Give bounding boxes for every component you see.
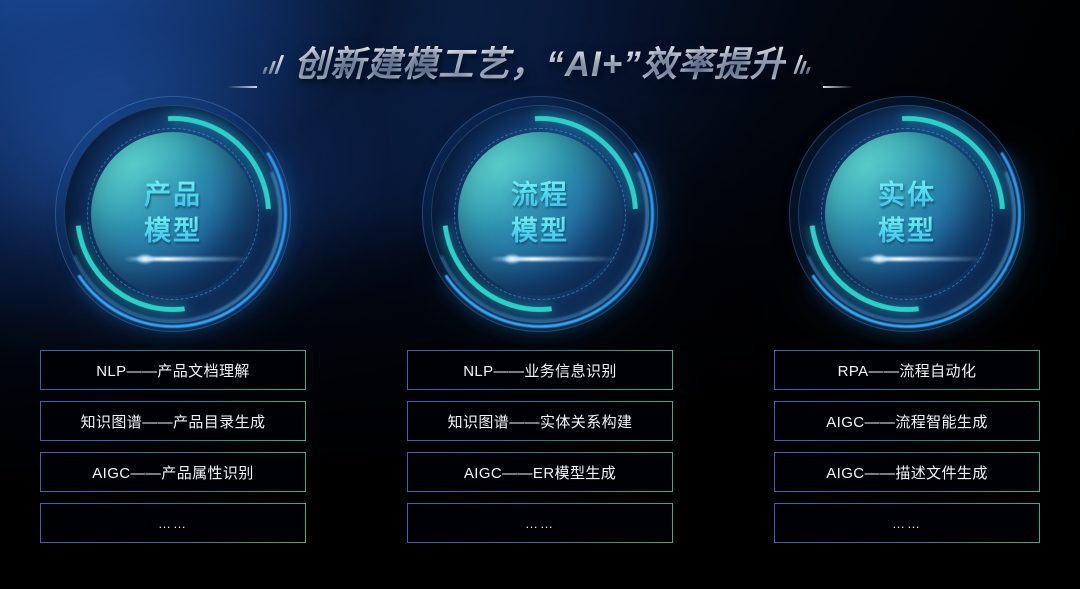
item-list-product-model: NLP——产品文档理解 知识图谱——产品目录生成 AIGC——产品属性识别 ……: [40, 350, 306, 543]
list-item[interactable]: AIGC——产品属性识别: [40, 452, 306, 492]
list-item-label: NLP——产品文档理解: [96, 360, 250, 381]
orb-label-line2: 模型: [144, 214, 202, 250]
orb-label-line1: 流程: [511, 178, 569, 214]
list-item-label: ……: [892, 516, 922, 531]
title-right-tail-decor: [823, 86, 853, 88]
column-process-model: 流程 模型 NLP——业务信息识别 知识图谱——实体关系构建 AIGC——ER模…: [405, 96, 675, 543]
title-left-tail-decor: [227, 86, 257, 88]
list-item-label: AIGC——ER模型生成: [464, 462, 616, 483]
list-item[interactable]: ……: [40, 503, 306, 543]
list-item-label: NLP——业务信息识别: [463, 360, 617, 381]
slide-canvas: 创新建模工艺，“AI+”效率提升 产品 模型: [0, 0, 1080, 589]
orb-process-model[interactable]: 流程 模型: [422, 96, 658, 332]
list-item[interactable]: AIGC——描述文件生成: [774, 452, 1040, 492]
list-item[interactable]: NLP——产品文档理解: [40, 350, 306, 390]
list-item-label: RPA——流程自动化: [838, 360, 977, 381]
orb-label-line2: 模型: [878, 214, 936, 250]
list-item-label: AIGC——流程智能生成: [826, 411, 987, 432]
list-item-label: 知识图谱——实体关系构建: [448, 411, 633, 432]
orb-light-flare-core: [871, 254, 887, 263]
list-item-label: ……: [158, 516, 188, 531]
orb-inner-disc: 产品 模型: [91, 132, 255, 296]
column-product-model: 产品 模型 NLP——产品文档理解 知识图谱——产品目录生成 AIGC——产品属…: [38, 96, 308, 543]
page-title: 创新建模工艺，“AI+”效率提升: [294, 36, 785, 87]
column-group: 产品 模型 NLP——产品文档理解 知识图谱——产品目录生成 AIGC——产品属…: [0, 96, 1080, 543]
orb-entity-model[interactable]: 实体 模型: [789, 96, 1025, 332]
list-item-label: ……: [525, 516, 555, 531]
list-item[interactable]: NLP——业务信息识别: [407, 350, 673, 390]
list-item[interactable]: 知识图谱——产品目录生成: [40, 401, 306, 441]
orb-inner-disc: 实体 模型: [825, 132, 989, 296]
slide-title-row: 创新建模工艺，“AI+”效率提升: [0, 34, 1080, 88]
orb-label-line1: 实体: [878, 178, 936, 214]
orb-inner-disc: 流程 模型: [458, 132, 622, 296]
list-item-label: AIGC——产品属性识别: [92, 462, 253, 483]
item-list-entity-model: RPA——流程自动化 AIGC——流程智能生成 AIGC——描述文件生成 ……: [774, 350, 1040, 543]
list-item[interactable]: RPA——流程自动化: [774, 350, 1040, 390]
title-right-slashes-icon: [793, 48, 817, 74]
list-item[interactable]: AIGC——流程智能生成: [774, 401, 1040, 441]
column-entity-model: 实体 模型 RPA——流程自动化 AIGC——流程智能生成 AIGC——描述文件…: [772, 96, 1042, 543]
orb-label-line2: 模型: [511, 214, 569, 250]
list-item[interactable]: ……: [774, 503, 1040, 543]
list-item-label: 知识图谱——产品目录生成: [81, 411, 266, 432]
list-item[interactable]: 知识图谱——实体关系构建: [407, 401, 673, 441]
title-left-slashes-icon: [263, 48, 287, 74]
list-item[interactable]: ……: [407, 503, 673, 543]
orb-light-flare-core: [137, 254, 153, 263]
list-item[interactable]: AIGC——ER模型生成: [407, 452, 673, 492]
orb-product-model[interactable]: 产品 模型: [55, 96, 291, 332]
orb-light-flare-core: [504, 254, 520, 263]
item-list-process-model: NLP——业务信息识别 知识图谱——实体关系构建 AIGC——ER模型生成 ……: [407, 350, 673, 543]
orb-label-line1: 产品: [144, 178, 202, 214]
list-item-label: AIGC——描述文件生成: [826, 462, 987, 483]
